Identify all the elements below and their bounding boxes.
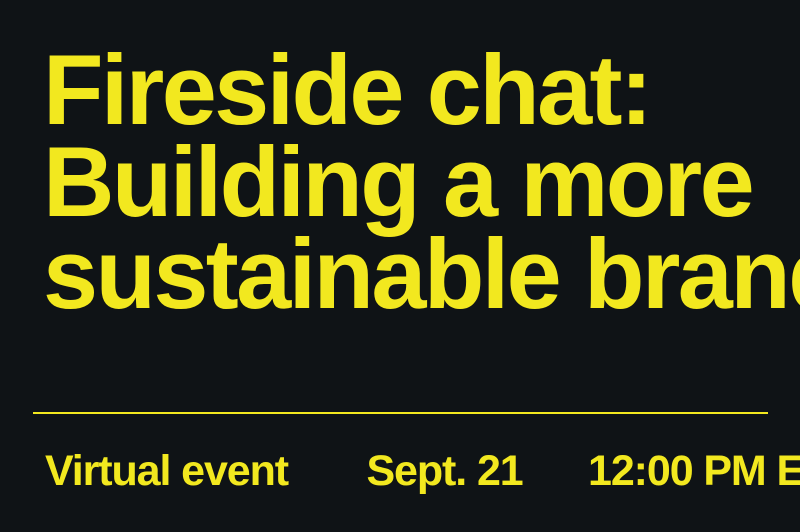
headline-line-2: Building a more [43, 136, 783, 228]
event-date-label: Sept. 21 [366, 448, 522, 494]
event-meta-row: Virtual event Sept. 21 12:00 PM ET [45, 448, 775, 496]
horizontal-divider [33, 412, 768, 414]
event-time-label: 12:00 PM ET [588, 448, 800, 494]
headline-line-3: sustainable brand [43, 228, 783, 320]
event-promo-card: Fireside chat: Building a more sustainab… [0, 0, 800, 532]
event-headline: Fireside chat: Building a more sustainab… [43, 44, 783, 320]
headline-line-1: Fireside chat: [43, 44, 783, 136]
event-format-label: Virtual event [45, 448, 288, 494]
